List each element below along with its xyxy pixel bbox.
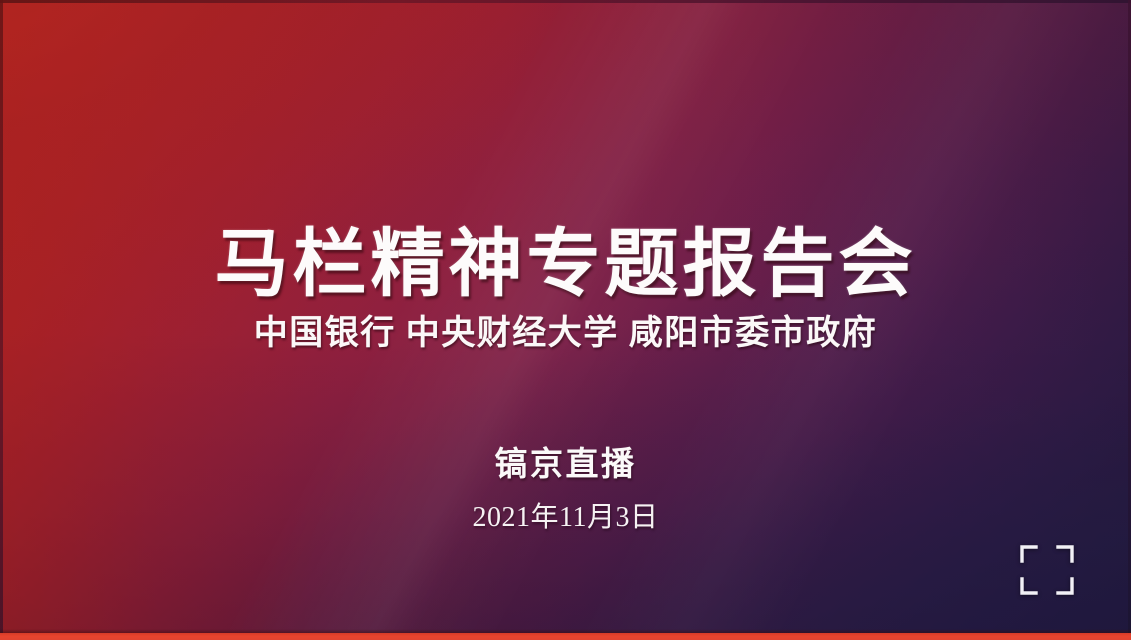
presentation-slide: 马栏精神专题报告会 中国银行 中央财经大学 咸阳市委市政府 镐京直播 2021年… (0, 0, 1131, 640)
slide-subtitle-organizers: 中国银行 中央财经大学 咸阳市委市政府 (0, 314, 1131, 355)
slide-date: 2021年11月3日 (0, 501, 1131, 535)
slide-content: 马栏精神专题报告会 中国银行 中央财经大学 咸阳市委市政府 镐京直播 2021年… (0, 0, 1131, 640)
fullscreen-frame-icon[interactable] (1016, 541, 1078, 599)
slide-title: 马栏精神专题报告会 (0, 226, 1131, 306)
broadcast-channel-label: 镐京直播 (0, 446, 1131, 486)
